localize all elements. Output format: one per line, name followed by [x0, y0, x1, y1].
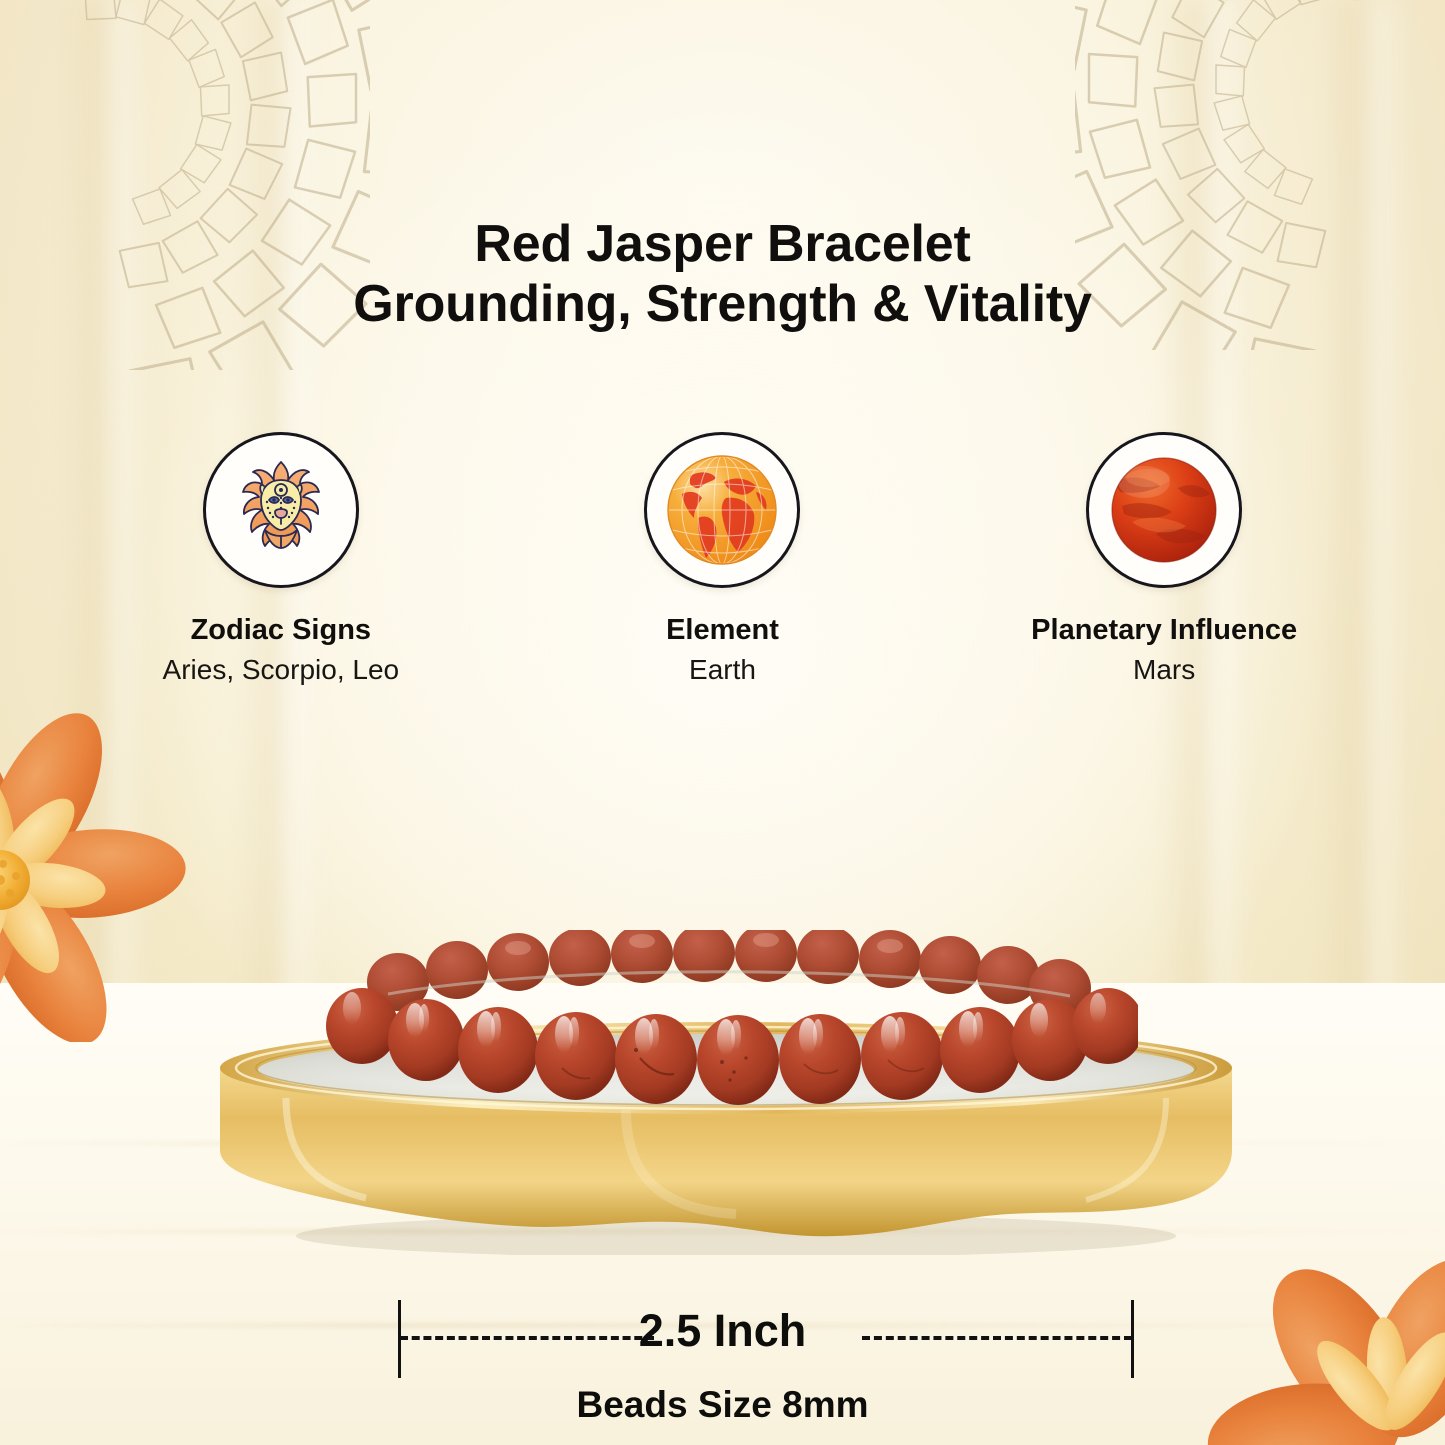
product-photo [0, 930, 1445, 1290]
product-infographic: Red Jasper Bracelet Grounding, Strength … [0, 0, 1445, 1445]
dimension-annotation: 2.5 Inch Beads Size 8mm [0, 1300, 1445, 1378]
lion-zodiac-icon [203, 432, 359, 588]
feature-zodiac-signs: Zodiac Signs Aries, Scorpio, Leo [62, 432, 499, 687]
feature-value: Mars [1133, 654, 1195, 686]
dimension-cap-right [1131, 1300, 1134, 1378]
title-line-2: Grounding, Strength & Vitality [0, 274, 1445, 334]
dimension-dash-right [862, 1336, 1132, 1340]
feature-planetary-influence: Planetary Influence Mars [946, 432, 1383, 687]
title-line-1: Red Jasper Bracelet [0, 214, 1445, 274]
mars-planet-icon [1086, 432, 1242, 588]
feature-label: Zodiac Signs [191, 614, 371, 647]
feature-value: Aries, Scorpio, Leo [163, 654, 400, 686]
feature-label: Element [666, 614, 779, 647]
dimension-length: 2.5 Inch [0, 1305, 1445, 1357]
earth-globe-icon [644, 432, 800, 588]
feature-value: Earth [689, 654, 756, 686]
red-jasper-beaded-bracelet [318, 930, 1138, 1145]
feature-element: Element Earth [504, 432, 941, 687]
page-title: Red Jasper Bracelet Grounding, Strength … [0, 214, 1445, 335]
feature-row: Zodiac Signs Aries, Scorpio, Leo [0, 432, 1445, 687]
bead-size-label: Beads Size 8mm [0, 1384, 1445, 1426]
feature-label: Planetary Influence [1031, 614, 1297, 647]
